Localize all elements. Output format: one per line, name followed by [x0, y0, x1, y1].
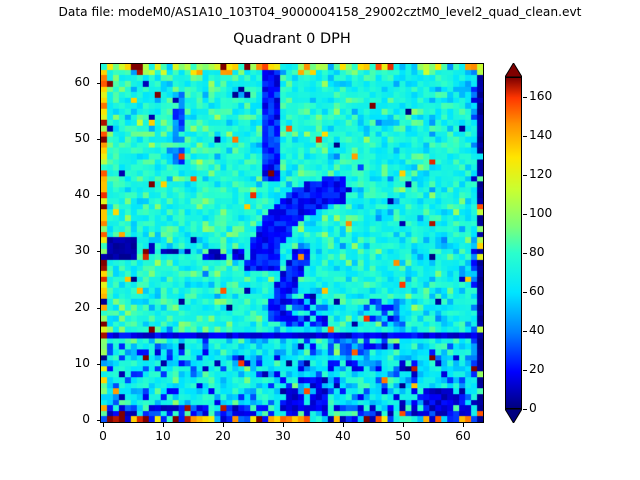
matplotlib-figure: Data file: modeM0/AS1A10_103T04_90000041… [0, 0, 640, 480]
colorbar-body [505, 77, 522, 409]
colorbar-tick-mark [523, 136, 527, 137]
colorbar-tick-mark [523, 370, 527, 371]
x-tick-mark [103, 423, 104, 427]
x-tick-label: 0 [83, 429, 123, 443]
dph-image-axes [100, 63, 484, 423]
x-tick-label: 40 [323, 429, 363, 443]
colorbar-tick-mark [523, 292, 527, 293]
y-tick-label: 50 [50, 131, 90, 145]
detector-heatmap-image [101, 64, 483, 422]
plot-title: Quadrant 0 DPH [100, 31, 484, 47]
y-tick-mark [97, 83, 101, 84]
colorbar-extend-top-arrow [505, 63, 522, 77]
colorbar: 020406080100120140160 [505, 63, 522, 423]
colorbar-gradient [506, 78, 521, 408]
colorbar-tick-mark [523, 97, 527, 98]
y-tick-label: 0 [50, 412, 90, 426]
colorbar-tick-label: 0 [529, 401, 537, 415]
x-tick-mark [463, 423, 464, 427]
x-tick-label: 10 [143, 429, 183, 443]
y-tick-mark [97, 308, 101, 309]
colorbar-tick-mark [523, 253, 527, 254]
x-tick-label: 20 [203, 429, 243, 443]
y-tick-label: 30 [50, 243, 90, 257]
colorbar-tick-label: 40 [529, 323, 545, 337]
x-tick-mark [283, 423, 284, 427]
colorbar-tick-label: 80 [529, 245, 545, 259]
y-tick-mark [97, 420, 101, 421]
y-tick-label: 20 [50, 300, 90, 314]
x-tick-mark [403, 423, 404, 427]
data-file-suptitle: Data file: modeM0/AS1A10_103T04_90000041… [0, 5, 640, 19]
y-tick-mark [97, 139, 101, 140]
x-tick-mark [163, 423, 164, 427]
colorbar-tick-mark [523, 175, 527, 176]
colorbar-tick-label: 20 [529, 362, 545, 376]
y-tick-label: 40 [50, 187, 90, 201]
colorbar-tick-label: 100 [529, 206, 552, 220]
x-tick-label: 50 [383, 429, 423, 443]
y-tick-label: 10 [50, 356, 90, 370]
colorbar-tick-mark [523, 331, 527, 332]
y-tick-mark [97, 251, 101, 252]
colorbar-extend-bottom-arrow [505, 409, 522, 423]
colorbar-tick-label: 60 [529, 284, 545, 298]
colorbar-tick-mark [523, 214, 527, 215]
y-tick-mark [97, 195, 101, 196]
x-tick-label: 30 [263, 429, 303, 443]
colorbar-tick-mark [523, 409, 527, 410]
y-tick-label: 60 [50, 75, 90, 89]
x-tick-mark [223, 423, 224, 427]
y-tick-mark [97, 364, 101, 365]
x-tick-mark [343, 423, 344, 427]
colorbar-tick-label: 140 [529, 128, 552, 142]
colorbar-tick-label: 120 [529, 167, 552, 181]
x-tick-label: 60 [443, 429, 483, 443]
colorbar-tick-label: 160 [529, 89, 552, 103]
